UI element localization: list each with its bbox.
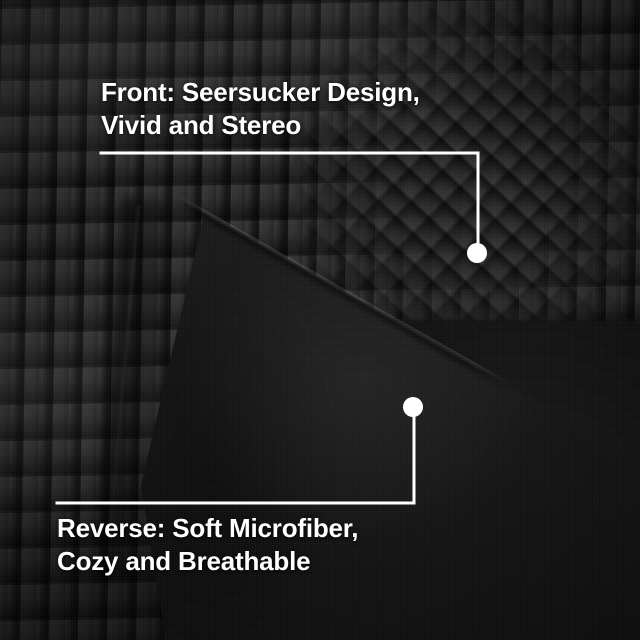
product-feature-image: Front: Seersucker Design, Vivid and Ster… bbox=[0, 0, 640, 640]
caption-front: Front: Seersucker Design, Vivid and Ster… bbox=[101, 76, 420, 142]
caption-reverse: Reverse: Soft Microfiber, Cozy and Breat… bbox=[57, 512, 358, 578]
